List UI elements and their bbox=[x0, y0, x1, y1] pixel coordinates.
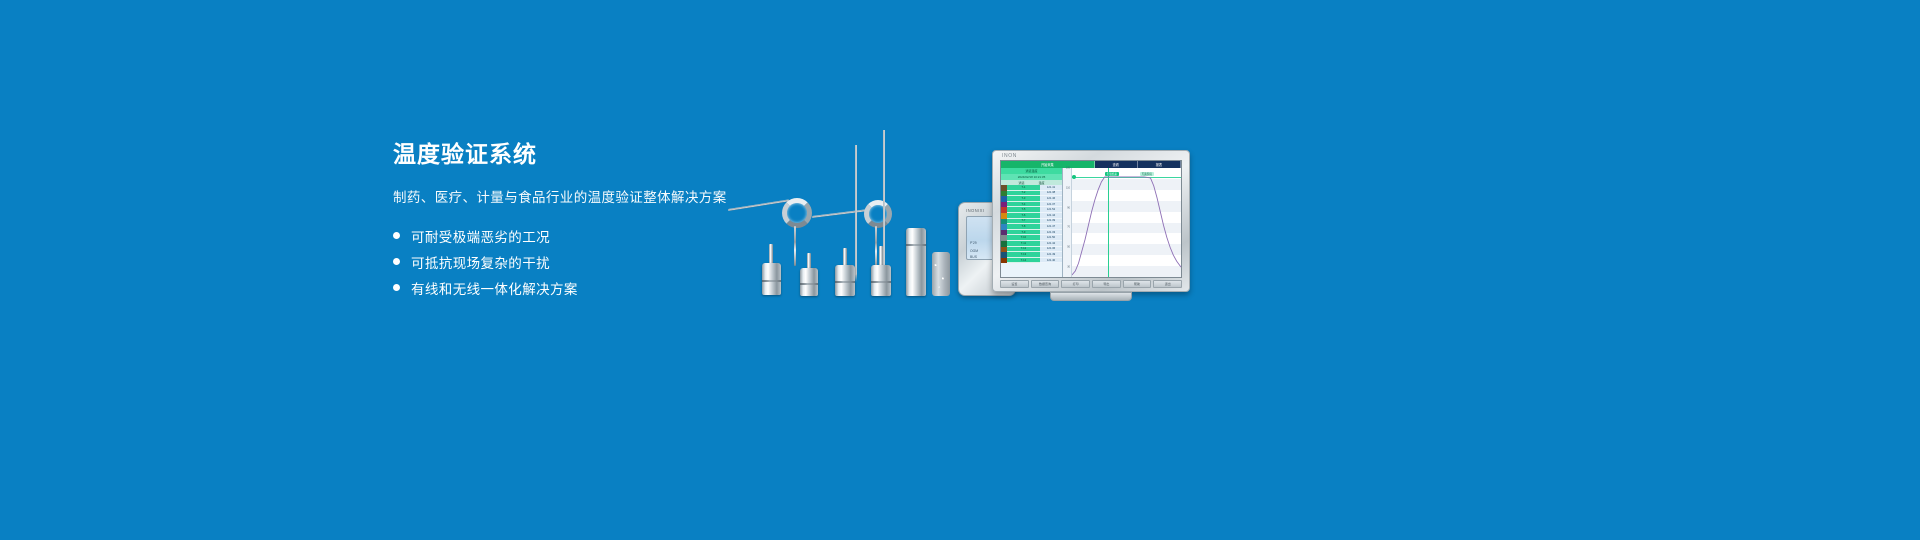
monitor-footer-buttons: 设置 数据查询 打印 导出 帮助 退出 bbox=[1000, 280, 1182, 288]
logger-band bbox=[835, 281, 855, 283]
toolbar-button-start[interactable]: 开始采集 bbox=[1001, 161, 1095, 168]
data-logger bbox=[932, 252, 950, 296]
promo-banner: 温度验证系统 制药、医疗、计量与食品行业的温度验证整体解决方案 可耐受极端恶劣的… bbox=[0, 0, 1920, 540]
feature-label: 可抵抗现场复杂的干扰 bbox=[411, 252, 550, 272]
footer-button-exit[interactable]: 退出 bbox=[1153, 280, 1182, 288]
channel-value-cell: 121.40 bbox=[1040, 258, 1062, 264]
toolbar-button-view[interactable]: 查看 bbox=[1095, 161, 1138, 168]
logger-band bbox=[871, 281, 891, 283]
footer-button-export[interactable]: 导出 bbox=[1092, 280, 1121, 288]
table-row[interactable]: T-14121.40 bbox=[1001, 258, 1062, 264]
bullet-dot-icon bbox=[393, 258, 400, 265]
software-body: 通道温度 2024/02/18 10:21:35 通道 温度 T-1121.41… bbox=[1001, 168, 1181, 277]
probe-wire bbox=[794, 226, 796, 266]
probe-wire bbox=[812, 209, 870, 218]
chart-plot-area[interactable]: 升温结束灭菌阶段 bbox=[1072, 168, 1181, 277]
logger-band bbox=[762, 280, 781, 282]
table-rows: T-1121.41T-2121.38T-3121.46T-4121.37T-51… bbox=[1001, 185, 1062, 277]
bullet-dot-icon bbox=[393, 284, 400, 291]
bullet-dot-icon bbox=[393, 232, 400, 239]
product-scene: INONIXI M1 P'29 · OGM · BUS · INON bbox=[720, 120, 1220, 310]
logger-band bbox=[800, 283, 818, 285]
needle-probe-icon bbox=[883, 130, 885, 275]
feature-label: 可耐受极端恶劣的工况 bbox=[411, 226, 550, 246]
chart-y-axis: 13011090705030 bbox=[1063, 168, 1072, 277]
logger-stem bbox=[843, 248, 847, 266]
needle-probe-icon bbox=[855, 145, 857, 275]
monitor-display: INON 开始采集 查看 报表 通道温度 2024/02/18 10:21:35… bbox=[992, 150, 1190, 292]
chart-y-tick-label: 30 bbox=[1067, 266, 1070, 269]
logger-stem bbox=[807, 253, 811, 269]
toolbar-button-report[interactable]: 报表 bbox=[1138, 161, 1181, 168]
footer-button-query[interactable]: 数据查询 bbox=[1031, 280, 1060, 288]
column-header-value: 温度 bbox=[1039, 181, 1045, 185]
software-screen: 开始采集 查看 报表 通道温度 2024/02/18 10:21:35 通道 温… bbox=[1000, 160, 1182, 278]
probe-wire bbox=[875, 226, 877, 268]
footer-button-help[interactable]: 帮助 bbox=[1123, 280, 1152, 288]
chart-y-tick-label: 70 bbox=[1067, 226, 1070, 229]
logger-stem bbox=[769, 244, 773, 264]
logger-band bbox=[906, 244, 926, 246]
handheld-brand-label: INONIXI bbox=[966, 208, 984, 213]
feature-label: 有线和无线一体化解决方案 bbox=[411, 278, 578, 298]
footer-button-settings[interactable]: 设置 bbox=[1000, 280, 1029, 288]
probe-coil-icon bbox=[864, 200, 892, 228]
chart-y-tick-label: 50 bbox=[1067, 246, 1070, 249]
data-logger bbox=[762, 263, 781, 295]
chart-series-line bbox=[1072, 177, 1181, 275]
temperature-chart: 13011090705030 升温结束灭菌阶段 bbox=[1063, 168, 1181, 277]
handheld-row-label: BUS bbox=[970, 255, 977, 259]
monitor-stand bbox=[1050, 292, 1132, 301]
data-logger bbox=[906, 228, 926, 296]
probe-wire bbox=[728, 199, 789, 210]
data-logger bbox=[800, 268, 818, 296]
probe-coil-icon bbox=[782, 198, 812, 228]
handheld-row-label: OGM bbox=[970, 249, 978, 253]
chart-y-tick-label: 110 bbox=[1066, 186, 1070, 189]
handheld-row-label: P'29 bbox=[970, 241, 977, 245]
column-header-channel: 通道 bbox=[1018, 181, 1024, 185]
logger-stem bbox=[879, 246, 883, 266]
channel-name-cell: T-14 bbox=[1007, 258, 1040, 264]
chart-y-tick-label: 130 bbox=[1066, 167, 1070, 170]
channel-data-table: 通道温度 2024/02/18 10:21:35 通道 温度 T-1121.41… bbox=[1001, 168, 1063, 277]
chart-y-tick-label: 90 bbox=[1067, 206, 1070, 209]
chart-series-svg bbox=[1072, 168, 1181, 277]
footer-button-print[interactable]: 打印 bbox=[1061, 280, 1090, 288]
monitor-brand-label: INON bbox=[1002, 153, 1017, 159]
software-topbar: 开始采集 查看 报表 bbox=[1001, 161, 1181, 168]
